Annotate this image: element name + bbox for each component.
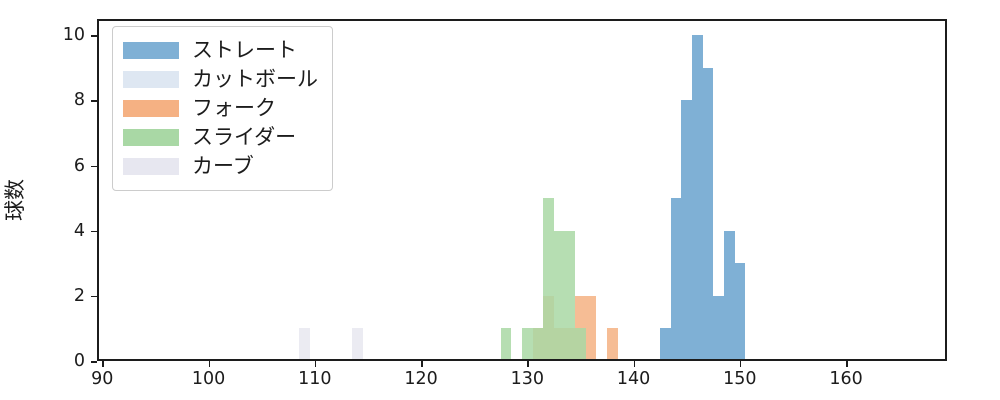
histogram-bar bbox=[735, 263, 746, 361]
legend-label: ストレート bbox=[192, 40, 297, 61]
axis-spine-left bbox=[97, 19, 99, 361]
legend-color-swatch bbox=[123, 100, 179, 117]
legend-label: カットボール bbox=[192, 69, 318, 90]
histogram-bar bbox=[533, 328, 544, 361]
x-tick-label: 150 bbox=[723, 369, 756, 389]
y-tick bbox=[91, 100, 97, 102]
y-tick-label: 10 bbox=[63, 25, 85, 45]
y-tick bbox=[91, 35, 97, 37]
histogram-bar bbox=[586, 296, 597, 361]
legend-item[interactable]: カットボール bbox=[123, 65, 318, 94]
histogram-bar bbox=[501, 328, 512, 361]
histogram-bar bbox=[703, 68, 714, 361]
x-tick bbox=[634, 361, 636, 367]
legend-color-swatch bbox=[123, 158, 179, 175]
histogram-bar bbox=[660, 328, 671, 361]
legend-label: スライダー bbox=[192, 127, 296, 148]
pitch-distribution-histogram: 球数 90100110120130140150160 0246810 ストレート… bbox=[0, 0, 1000, 400]
x-tick-label: 110 bbox=[298, 369, 331, 389]
histogram-bar bbox=[681, 100, 692, 361]
histogram-bar bbox=[724, 231, 735, 361]
y-tick bbox=[91, 231, 97, 233]
legend-item[interactable]: カーブ bbox=[123, 152, 318, 181]
histogram-bar bbox=[352, 328, 363, 361]
y-tick bbox=[91, 296, 97, 298]
x-tick bbox=[421, 361, 423, 367]
legend-item[interactable]: スライダー bbox=[123, 123, 318, 152]
x-tick-label: 90 bbox=[91, 369, 113, 389]
legend-color-swatch bbox=[123, 71, 179, 88]
y-tick-label: 0 bbox=[74, 351, 85, 371]
y-tick-label: 4 bbox=[74, 221, 85, 241]
histogram-bar bbox=[671, 198, 682, 361]
y-tick-label: 6 bbox=[74, 156, 85, 176]
histogram-bar bbox=[692, 35, 703, 361]
histogram-bar bbox=[575, 328, 586, 361]
histogram-bar bbox=[299, 328, 310, 361]
x-tick-label: 160 bbox=[829, 369, 862, 389]
legend-label: カーブ bbox=[192, 156, 254, 177]
y-tick bbox=[91, 166, 97, 168]
x-tick-label: 120 bbox=[404, 369, 437, 389]
histogram-bar bbox=[713, 296, 724, 361]
y-tick-label: 2 bbox=[74, 286, 85, 306]
x-tick bbox=[315, 361, 317, 367]
legend-label: フォーク bbox=[192, 98, 276, 119]
histogram-bar bbox=[607, 328, 618, 361]
x-tick bbox=[209, 361, 211, 367]
legend-color-swatch bbox=[123, 129, 179, 146]
legend-color-swatch bbox=[123, 42, 179, 59]
x-tick-label: 140 bbox=[617, 369, 650, 389]
x-tick bbox=[102, 361, 104, 367]
x-tick bbox=[846, 361, 848, 367]
histogram-bar bbox=[565, 231, 576, 361]
histogram-bar bbox=[543, 198, 554, 361]
y-tick bbox=[91, 361, 97, 363]
x-tick-label: 100 bbox=[192, 369, 225, 389]
y-axis-title: 球数 bbox=[0, 179, 29, 221]
histogram-bar bbox=[522, 328, 533, 361]
y-tick-label: 8 bbox=[74, 90, 85, 110]
axis-spine-top bbox=[97, 19, 947, 21]
axis-spine-bottom bbox=[97, 359, 947, 361]
legend-item[interactable]: ストレート bbox=[123, 36, 318, 65]
x-tick bbox=[740, 361, 742, 367]
legend-item[interactable]: フォーク bbox=[123, 94, 318, 123]
legend: ストレートカットボールフォークスライダーカーブ bbox=[112, 26, 333, 191]
x-tick-label: 130 bbox=[511, 369, 544, 389]
axis-spine-right bbox=[945, 19, 947, 361]
x-tick bbox=[527, 361, 529, 367]
histogram-bar bbox=[554, 231, 565, 361]
